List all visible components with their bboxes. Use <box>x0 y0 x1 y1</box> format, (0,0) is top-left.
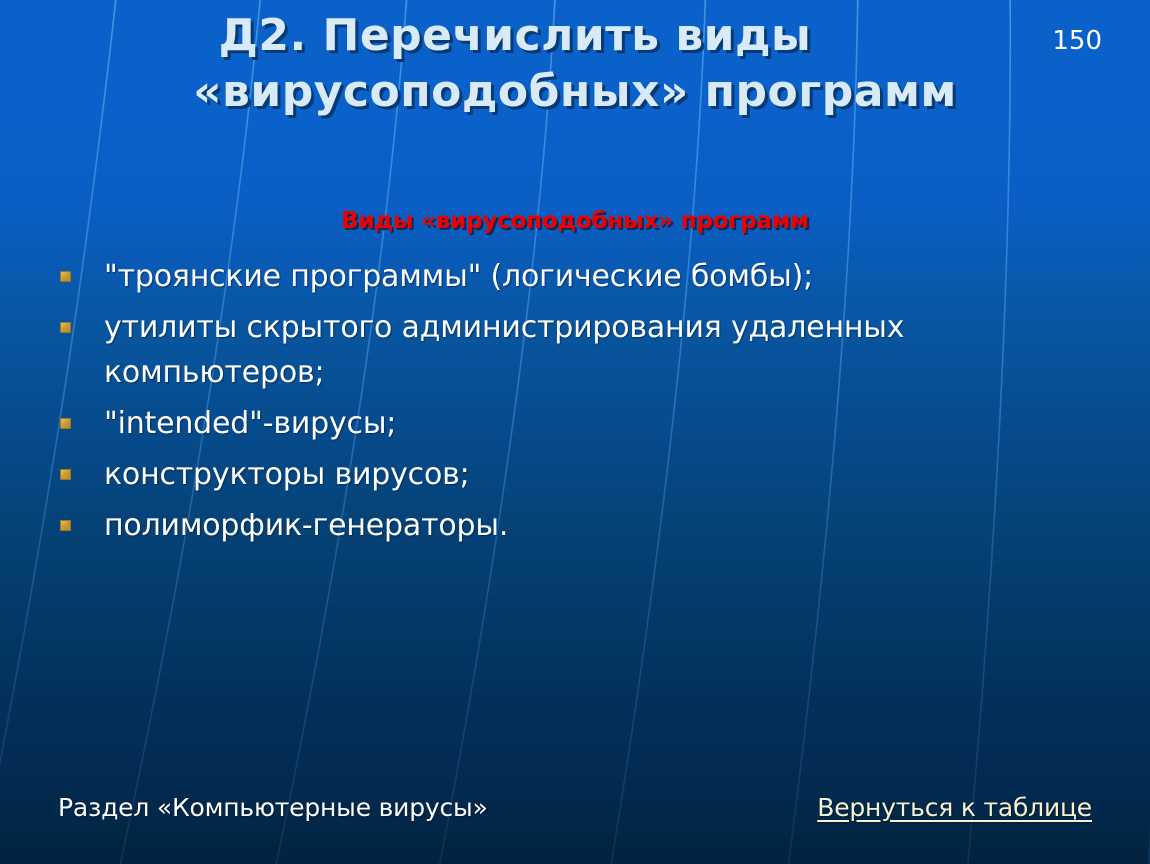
square-bullet-icon <box>60 322 71 333</box>
back-to-table-link[interactable]: Вернуться к таблице <box>817 793 1092 822</box>
list-item-label: конструкторы вирусов; <box>104 452 1090 497</box>
list-item: "intended"-вирусы; <box>60 401 1090 446</box>
list-item: "троянские программы" (логические бомбы)… <box>60 254 1090 299</box>
list-item: конструкторы вирусов; <box>60 452 1090 497</box>
list-item: утилиты скрытого администрирования удале… <box>60 305 1090 395</box>
square-bullet-icon <box>60 520 71 531</box>
list-item-label: "троянские программы" (логические бомбы)… <box>104 254 1090 299</box>
bullet-list: "троянские программы" (логические бомбы)… <box>60 254 1090 554</box>
slide-title: Д2. Перечислить виды «вирусоподобных» пр… <box>0 8 1150 120</box>
square-bullet-icon <box>60 418 71 429</box>
slide-subtitle: Виды «вирусоподобных» программ <box>0 208 1150 234</box>
presentation-slide: 150 Д2. Перечислить виды «вирусоподобных… <box>0 0 1150 864</box>
slide-title-line-2: «вирусоподобных» программ <box>0 64 1150 120</box>
list-item: полиморфик-генераторы. <box>60 503 1090 548</box>
square-bullet-icon <box>60 469 71 480</box>
list-item-label: полиморфик-генераторы. <box>104 503 1090 548</box>
list-item-label: "intended"-вирусы; <box>104 401 1090 446</box>
list-item-label: утилиты скрытого администрирования удале… <box>104 305 1090 395</box>
square-bullet-icon <box>60 271 71 282</box>
slide-title-line-1: Д2. Перечислить виды <box>0 8 1150 64</box>
footer-section-label: Раздел «Компьютерные вирусы» <box>58 793 488 822</box>
